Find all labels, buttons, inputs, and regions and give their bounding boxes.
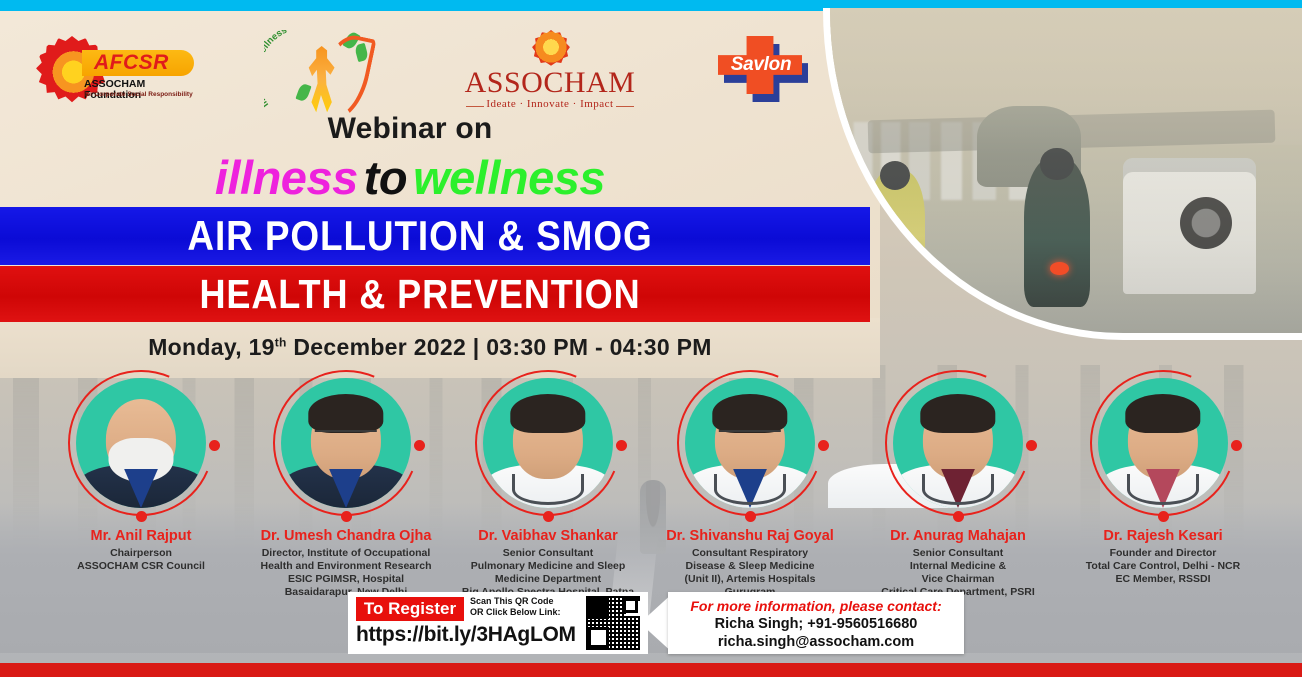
datetime-ordinal: th [275, 335, 287, 349]
avatar-dot-right [1026, 440, 1037, 451]
qr-instruction: Scan This QR Code OR Click Below Link: [470, 596, 582, 618]
avatar [685, 378, 815, 508]
topic-band-red-text: HEALTH & PREVENTION [50, 266, 789, 322]
avatar [1098, 378, 1228, 508]
to-register-badge: To Register [356, 597, 464, 621]
speaker-list: Mr. Anil Rajput Chairperson ASSOCHAM CSR… [0, 378, 1302, 588]
speaker-role: Senior Consultant Pulmonary Medicine and… [443, 547, 653, 599]
registration-link[interactable]: https://bit.ly/3HAgLOM [356, 623, 588, 647]
avatar-dot-right [209, 440, 220, 451]
speaker-name: Dr. Umesh Chandra Ojha [241, 528, 451, 545]
speaker-name: Mr. Anil Rajput [36, 528, 246, 545]
avatar-dot-right [818, 440, 829, 451]
illness-to-wellness-logo: Illness To Wellness [262, 22, 374, 126]
speaker-card: Dr. Umesh Chandra Ojha Director, Institu… [241, 378, 451, 599]
title-wellness: wellness [413, 151, 605, 204]
contact-heading: For more information, please contact: [668, 598, 964, 615]
speaker-card: Dr. Vaibhav Shankar Senior Consultant Pu… [443, 378, 653, 599]
speaker-card: Mr. Anil Rajput Chairperson ASSOCHAM CSR… [36, 378, 246, 573]
avatar-dot-right [616, 440, 627, 451]
afcsr-subtitle-line2: for Corporate Social Responsibility [84, 91, 204, 99]
title-illness: illness [215, 151, 358, 204]
avatar-dot-bottom [1158, 511, 1169, 522]
qr-finder-top-right [623, 598, 638, 613]
speaker-role: Founder and Director Total Care Control,… [1058, 547, 1268, 586]
savlon-logo: Savlon [718, 36, 818, 108]
title-to: to [364, 151, 407, 204]
topic-band-red: HEALTH & PREVENTION [0, 266, 870, 322]
savlon-wordmark: Savlon [720, 54, 802, 76]
photo-smog-haze [830, 8, 1302, 333]
avatar [281, 378, 411, 508]
arc-label: Illness To Wellness [264, 30, 289, 109]
speaker-role: Director, Institute of Occupational Heal… [241, 547, 451, 599]
speaker-name: Dr. Anurag Mahajan [853, 528, 1063, 545]
illness-to-wellness-title: illnesstowellness [130, 150, 690, 205]
event-datetime: Monday, 19th December 2022 | 03:30 PM - … [140, 334, 720, 361]
speaker-card: Dr. Rajesh Kesari Founder and Director T… [1058, 378, 1268, 586]
speaker-name: Dr. Rajesh Kesari [1058, 528, 1268, 545]
avatar-dot-bottom [953, 511, 964, 522]
contact-box: For more information, please contact: Ri… [668, 592, 964, 654]
avatar [76, 378, 206, 508]
svg-text:Illness To Wellness: Illness To Wellness [264, 30, 289, 109]
contact-email[interactable]: richa.singh@assocham.com [668, 633, 964, 651]
topic-band-blue-text: AIR POLLUTION & SMOG [50, 207, 789, 265]
assocham-logo: ASSOCHAM Ideate · Innovate · Impact [460, 28, 640, 114]
datetime-rest: December 2022 | 03:30 PM - 04:30 PM [287, 334, 712, 360]
bottom-red-strip [0, 663, 1302, 677]
avatar [483, 378, 613, 508]
speaker-card: Dr. Shivanshu Raj Goyal Consultant Respi… [645, 378, 855, 599]
avatar-dot-bottom [543, 511, 554, 522]
assocham-wordmark: ASSOCHAM [460, 66, 640, 100]
contact-phone: Richa Singh; +91-9560516680 [668, 615, 964, 633]
speaker-name: Dr. Vaibhav Shankar [443, 528, 653, 545]
avatar-dot-bottom [136, 511, 147, 522]
speaker-card: Dr. Anurag Mahajan Senior Consultant Int… [853, 378, 1063, 599]
avatar-dot-right [1231, 440, 1242, 451]
avatar-dot-right [414, 440, 425, 451]
hero-traffic-photo [823, 8, 1302, 340]
register-box[interactable]: To Register Scan This QR Code OR Click B… [348, 592, 648, 654]
qr-code-icon[interactable] [586, 596, 640, 650]
sun-icon [532, 30, 570, 68]
avatar-dot-bottom [745, 511, 756, 522]
assocham-tagline: Ideate · Innovate · Impact [460, 98, 640, 110]
avatar [893, 378, 1023, 508]
afcsr-logo: AFCSR ASSOCHAM Foundation for Corporate … [36, 30, 196, 110]
avatar-dot-bottom [341, 511, 352, 522]
webinar-poster: AFCSR ASSOCHAM Foundation for Corporate … [0, 0, 1302, 677]
speaker-name: Dr. Shivanshu Raj Goyal [645, 528, 855, 545]
speaker-role: Chairperson ASSOCHAM CSR Council [36, 547, 246, 573]
afcsr-wordmark: AFCSR [94, 50, 194, 76]
topic-band-blue: AIR POLLUTION & SMOG [0, 207, 870, 265]
webinar-on-label: Webinar on [150, 112, 670, 146]
datetime-day: Monday, 19 [148, 334, 275, 360]
sponsor-logo-row: AFCSR ASSOCHAM Foundation for Corporate … [0, 22, 880, 114]
